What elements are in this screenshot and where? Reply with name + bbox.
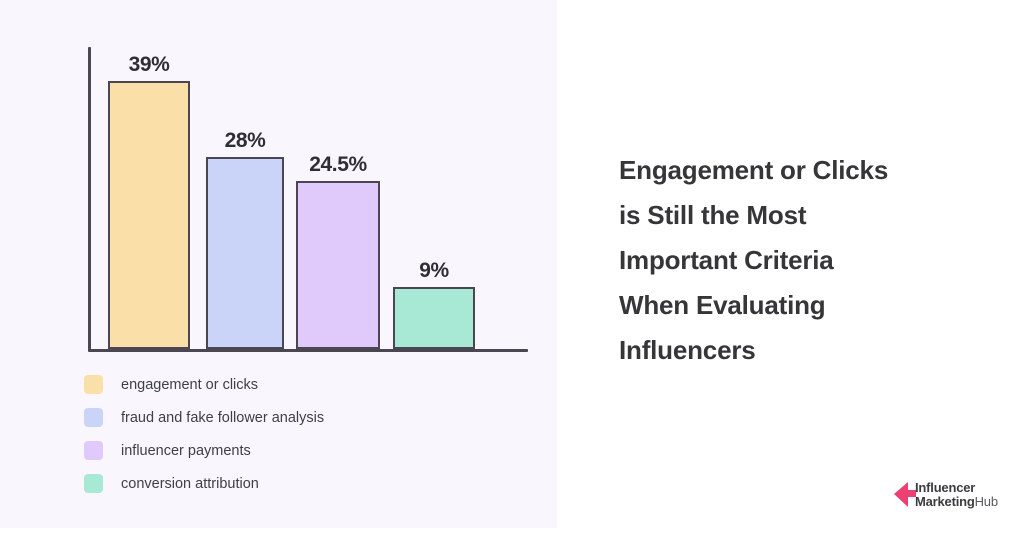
bar-value-label-4: 9%: [419, 259, 449, 283]
chart-legend: engagement or clicksfraud and fake follo…: [84, 368, 324, 500]
logo-line-marketinghub: MarketingHub: [915, 495, 998, 509]
logo-hub-text: Hub: [975, 494, 998, 509]
legend-swatch-icon-2: [84, 408, 103, 427]
chart-panel: 39%28%24.5%9% engagement or clicksfraud …: [0, 0, 557, 528]
legend-item-2: fraud and fake follower analysis: [84, 401, 324, 434]
x-axis-line: [88, 349, 528, 352]
legend-label-3: influencer payments: [121, 443, 251, 459]
legend-label-2: fraud and fake follower analysis: [121, 410, 324, 426]
bar-4: [393, 287, 475, 349]
logo-wordmark: Influencer MarketingHub: [915, 481, 998, 509]
legend-swatch-icon-4: [84, 474, 103, 493]
logo-arrow-icon: [894, 482, 916, 508]
bar-chart: 39%28%24.5%9%: [88, 47, 528, 352]
headline-line-5: Influencers: [619, 328, 979, 373]
legend-label-4: conversion attribution: [121, 476, 259, 492]
legend-swatch-icon-3: [84, 441, 103, 460]
legend-item-4: conversion attribution: [84, 467, 324, 500]
legend-item-1: engagement or clicks: [84, 368, 324, 401]
brand-logo: Influencer MarketingHub: [894, 481, 998, 509]
legend-label-1: engagement or clicks: [121, 377, 258, 393]
headline-line-3: Important Criteria: [619, 238, 979, 283]
headline: Engagement or Clicksis Still the MostImp…: [619, 148, 979, 373]
y-axis-line: [88, 47, 91, 351]
bar-value-label-1: 39%: [129, 53, 170, 77]
bar-2: [206, 157, 284, 349]
bar-value-label-2: 28%: [225, 129, 266, 153]
legend-swatch-icon-1: [84, 375, 103, 394]
logo-line-influencer: Influencer: [915, 481, 998, 495]
headline-line-2: is Still the Most: [619, 193, 979, 238]
bar-3: [296, 181, 380, 349]
bar-value-label-3: 24.5%: [309, 153, 367, 177]
logo-marketing-text: Marketing: [915, 494, 975, 509]
headline-line-1: Engagement or Clicks: [619, 148, 979, 193]
bar-1: [108, 81, 190, 349]
infographic-canvas: 39%28%24.5%9% engagement or clicksfraud …: [0, 0, 1024, 536]
legend-item-3: influencer payments: [84, 434, 324, 467]
headline-line-4: When Evaluating: [619, 283, 979, 328]
